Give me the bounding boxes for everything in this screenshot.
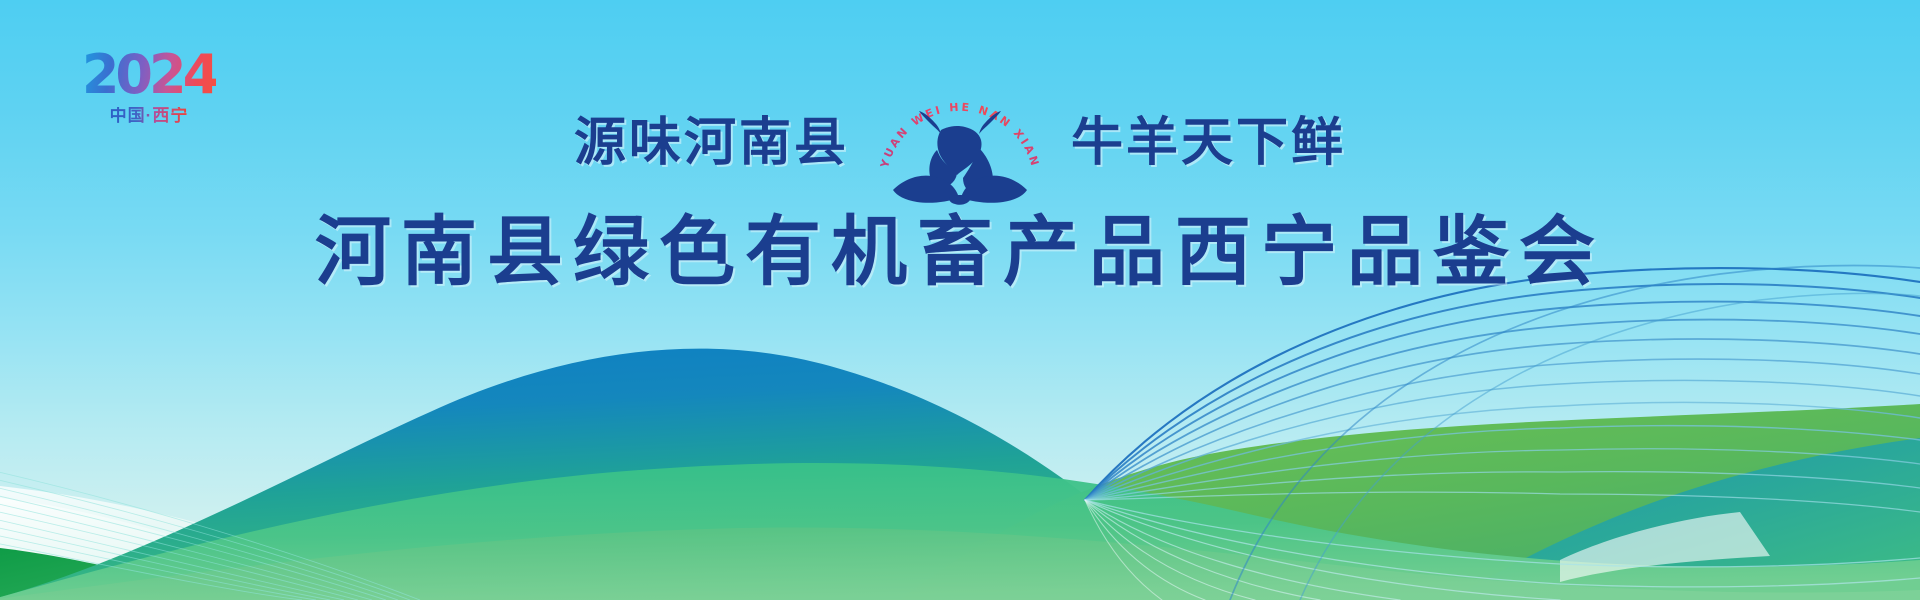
page-title: 河南县绿色有机畜产品西宁品鉴会 <box>0 214 1920 290</box>
brand-mark: YUAN WEI HE NAN XIAN <box>875 78 1045 208</box>
event-banner: 2024 中国·西宁 源味河南县 YUAN WEI HE NAN XIA <box>0 0 1920 600</box>
brand-lockup: 源味河南县 YUAN WEI HE NAN XIAN <box>0 78 1920 208</box>
brand-right-text: 牛羊天下鲜 <box>1071 117 1346 169</box>
brand-left-text: 源味河南县 <box>574 117 849 169</box>
